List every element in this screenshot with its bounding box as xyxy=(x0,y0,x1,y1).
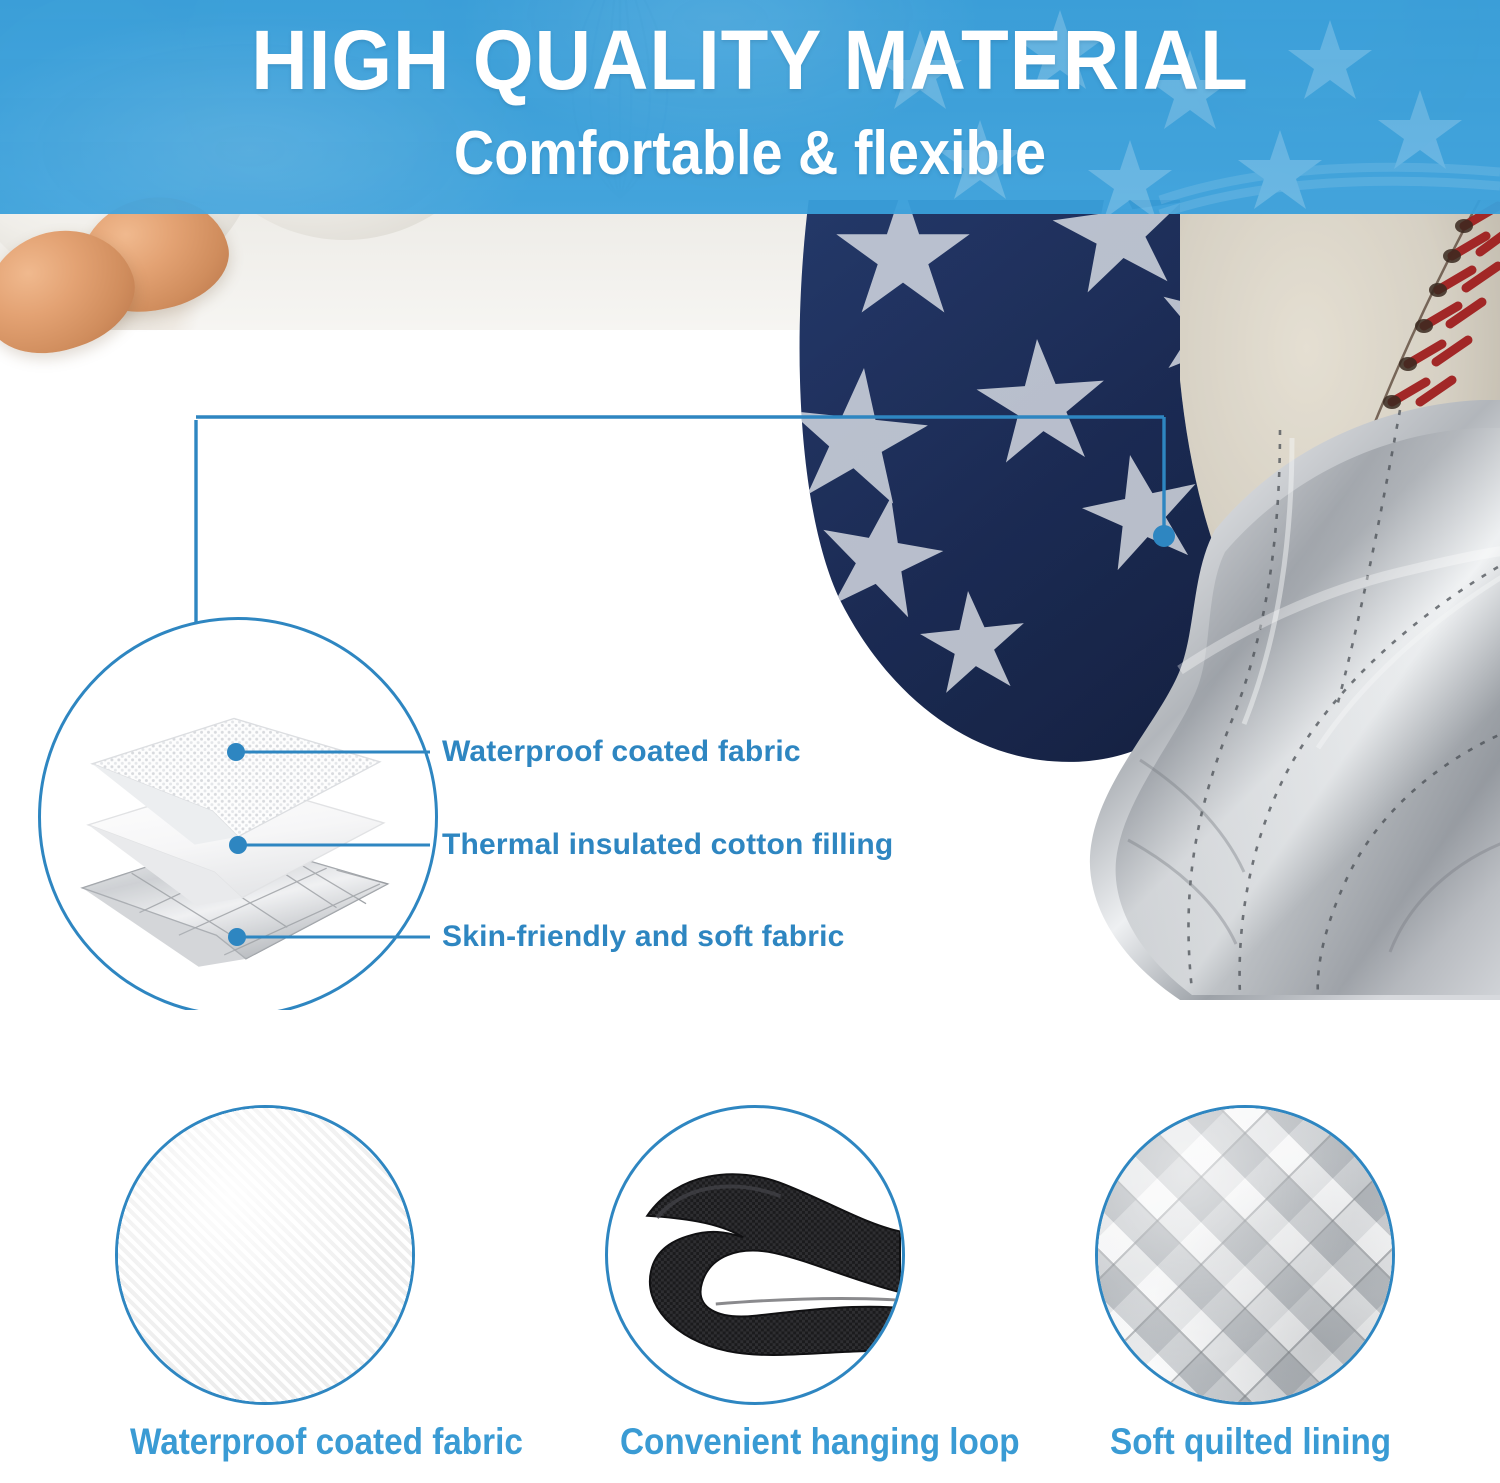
feature-image-quilted-lining xyxy=(1095,1105,1395,1405)
swatch-sheen xyxy=(118,1108,412,1402)
feature-image-waterproof xyxy=(115,1105,415,1405)
black-webbing-loop-icon xyxy=(608,1108,902,1402)
callout-dot-top-layer xyxy=(227,743,245,761)
feature-hanging-loop: Convenient hanging loop xyxy=(605,1105,905,1405)
layer-label-skin-friendly: Skin-friendly and soft fabric xyxy=(442,920,845,954)
feature-caption-waterproof: Waterproof coated fabric xyxy=(130,1421,400,1463)
header-banner: HIGH QUALITY MATERIAL Comfortable & flex… xyxy=(0,0,1500,214)
feature-quilted-lining: Soft quilted lining xyxy=(1095,1105,1395,1405)
layer-label-waterproof: Waterproof coated fabric xyxy=(442,735,801,769)
page-subtitle: Comfortable & flexible xyxy=(75,122,1425,186)
hero-product-section: Waterproof coated fabric Thermal insulat… xyxy=(0,0,1500,1010)
page-title: HIGH QUALITY MATERIAL xyxy=(53,18,1448,102)
feature-image-hanging-loop xyxy=(605,1105,905,1405)
swatch-sheen xyxy=(1098,1108,1392,1402)
feature-caption-quilted-lining: Soft quilted lining xyxy=(1110,1421,1380,1463)
layer-label-thermal: Thermal insulated cotton filling xyxy=(442,828,893,862)
callout-dot-bottom-layer xyxy=(228,928,246,946)
callout-dot-middle-layer xyxy=(229,836,247,854)
feature-waterproof-fabric: Waterproof coated fabric xyxy=(115,1105,415,1405)
infographic-page: Waterproof coated fabric Thermal insulat… xyxy=(0,0,1500,1483)
feature-caption-hanging-loop: Convenient hanging loop xyxy=(620,1421,890,1463)
